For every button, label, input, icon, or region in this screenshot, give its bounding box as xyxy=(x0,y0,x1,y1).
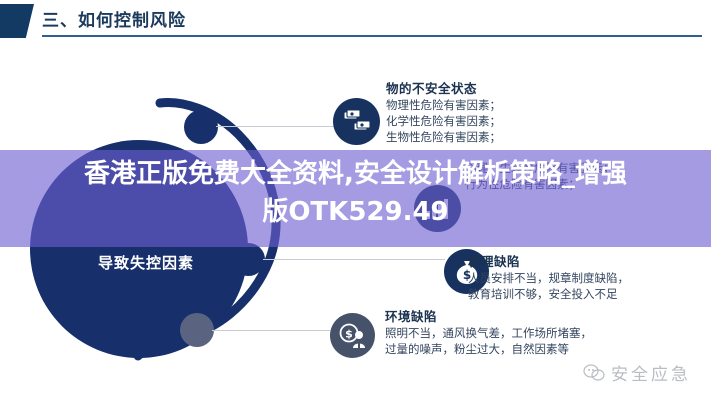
cash-stack-icon xyxy=(333,98,380,145)
overlay-text-line1: 香港正版免费大全资料,安全设计解析策略_增强 xyxy=(0,155,711,193)
block-line: 生物性危险有害因素； xyxy=(386,130,501,145)
wechat-icon xyxy=(583,364,605,382)
block-heading: 管理缺陷 xyxy=(468,251,629,270)
block-heading: 环境缺陷 xyxy=(385,306,592,325)
leader-line-2 xyxy=(263,259,445,260)
block-unsafe-state: 物的不安全状态 物理性危险有害因素； 化学性危险有害因素； 生物性危险有害因素； xyxy=(386,78,501,145)
person-cost-icon: $ xyxy=(330,313,375,358)
node-dot-top xyxy=(184,110,218,144)
block-line: 教育培训不够，安全投入不足 xyxy=(468,287,629,302)
wechat-watermark: 安全应急 xyxy=(583,360,691,385)
leader-line-1 xyxy=(216,126,336,127)
block-heading: 物的不安全状态 xyxy=(386,78,501,97)
block-management-defect: 管理缺陷 人员安排不当，规章制度缺陷， 教育培训不够，安全投入不足 xyxy=(468,251,629,302)
block-line: 物理性危险有害因素； xyxy=(386,98,501,113)
wechat-watermark-text: 安全应急 xyxy=(611,360,691,385)
svg-text:$: $ xyxy=(345,327,353,340)
block-line: 化学性危险有害因素； xyxy=(386,114,501,129)
block-line: 过量的噪声，粉尘过大，自然因素等 xyxy=(385,342,592,357)
node-dot-bottom xyxy=(180,313,214,347)
block-line: 人员安排不当，规章制度缺陷， xyxy=(468,271,629,286)
block-line: 照明不当，通风换气差，工作场所堵塞， xyxy=(385,326,592,341)
node-dot-middle xyxy=(232,243,265,276)
leader-line-3 xyxy=(212,330,330,331)
slide-canvas: 三、如何控制风险 导致失控因素 xyxy=(0,0,711,400)
overlay-text: 香港正版免费大全资料,安全设计解析策略_增强 版OTK529.49 xyxy=(0,155,711,231)
overlay-text-line2: 版OTK529.49 xyxy=(0,193,711,231)
block-environment-defect: 环境缺陷 照明不当，通风换气差，工作场所堵塞， 过量的噪声，粉尘过大，自然因素等 xyxy=(385,306,592,357)
